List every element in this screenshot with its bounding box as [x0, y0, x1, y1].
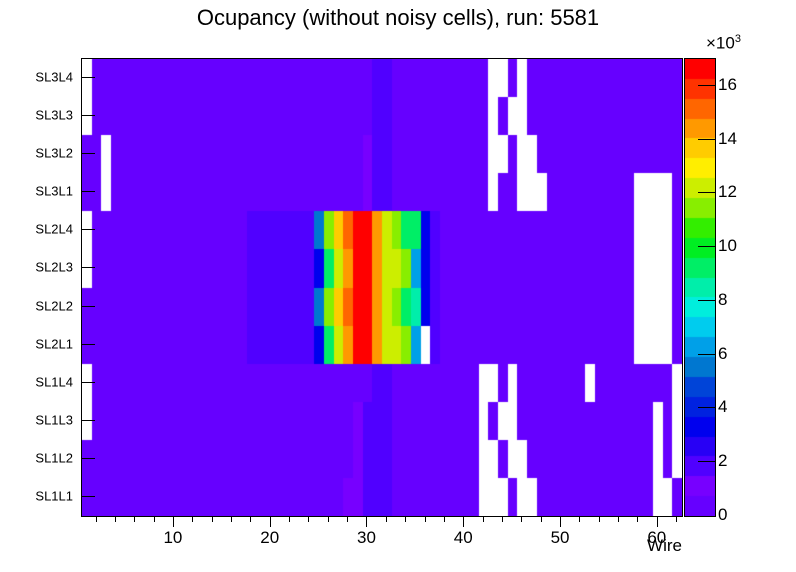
- y-axis-label-sl2l3: SL2L3: [35, 260, 79, 275]
- palette-tick: [698, 407, 715, 408]
- palette-tick: [698, 139, 715, 140]
- y-axis-tick: [81, 153, 95, 154]
- y-axis-label-sl3l2: SL3L2: [35, 146, 79, 161]
- y-axis-label-sl2l1: SL2L1: [35, 336, 79, 351]
- x-axis-tick: [657, 516, 658, 527]
- heatmap-canvas: [82, 59, 682, 516]
- palette-tick-label: 8: [718, 290, 727, 310]
- x-axis-tick: [192, 516, 193, 522]
- x-axis-tick: [637, 516, 638, 522]
- y-axis-tick: [81, 306, 95, 307]
- x-axis-tick: [521, 516, 522, 522]
- palette-tick: [698, 85, 715, 86]
- y-axis-tick: [81, 191, 95, 192]
- palette-tick-label: 16: [718, 75, 737, 95]
- palette-tick: [698, 246, 715, 247]
- x-axis-tick: [502, 516, 503, 522]
- palette-tick-label: 4: [718, 397, 727, 417]
- x-axis-tick: [347, 516, 348, 522]
- x-axis-tick: [366, 516, 367, 527]
- y-axis-tick: [81, 420, 95, 421]
- y-axis-tick: [81, 229, 95, 230]
- y-axis-label-sl3l3: SL3L3: [35, 108, 79, 123]
- palette-tick: [698, 300, 715, 301]
- palette-tick-label: 14: [718, 129, 737, 149]
- x-axis-tick: [173, 516, 174, 527]
- y-axis-label-sl1l4: SL1L4: [35, 374, 79, 389]
- x-axis-tick: [308, 516, 309, 522]
- y-axis-labels: SL3L4SL3L3SL3L2SL3L1SL2L4SL2L3SL2L2SL2L1…: [0, 58, 79, 515]
- palette-tick: [698, 461, 715, 462]
- x-axis-tick: [579, 516, 580, 522]
- y-axis-label-sl1l3: SL1L3: [35, 412, 79, 427]
- x-axis-tick: [270, 516, 271, 527]
- x-axis-tick: [154, 516, 155, 522]
- x-axis-tick: [560, 516, 561, 527]
- x-axis-tick: [618, 516, 619, 522]
- x-axis-tick: [405, 516, 406, 522]
- palette-axis: 0246810121416: [684, 58, 784, 515]
- heatmap-frame: [81, 58, 683, 517]
- x-axis-tick: [328, 516, 329, 522]
- x-axis-tick: [250, 516, 251, 522]
- palette-exponent: ×103: [706, 33, 741, 54]
- y-axis-tick: [81, 115, 95, 116]
- y-axis-tick: [81, 382, 95, 383]
- x-axis-tick: [676, 516, 677, 522]
- y-axis-label-sl2l4: SL2L4: [35, 222, 79, 237]
- palette-tick: [698, 354, 715, 355]
- y-axis-label-sl3l4: SL3L4: [35, 70, 79, 85]
- y-axis-label-sl2l2: SL2L2: [35, 298, 79, 313]
- palette-tick-label: 12: [718, 182, 737, 202]
- y-axis-tick: [81, 344, 95, 345]
- palette-exponent-base: ×10: [706, 34, 735, 53]
- x-axis-tick: [483, 516, 484, 522]
- y-axis-label-sl1l2: SL1L2: [35, 450, 79, 465]
- palette-tick-label: 6: [718, 344, 727, 364]
- x-axis-tick: [134, 516, 135, 522]
- y-axis-tick: [81, 458, 95, 459]
- y-axis-tick: [81, 496, 95, 497]
- x-axis-tick: [599, 516, 600, 522]
- x-axis-tick: [289, 516, 290, 522]
- chart-title: Ocupancy (without noisy cells), run: 558…: [0, 5, 796, 31]
- x-axis-tick: [386, 516, 387, 522]
- plot-canvas: Ocupancy (without noisy cells), run: 558…: [0, 0, 796, 572]
- y-axis-tick: [81, 77, 95, 78]
- palette-tick-label: 10: [718, 236, 737, 256]
- y-axis-tick: [81, 267, 95, 268]
- x-axis-title: Wire: [0, 536, 682, 556]
- x-axis-tick: [96, 516, 97, 522]
- palette-tick-label: 2: [718, 451, 727, 471]
- x-axis-tick: [212, 516, 213, 522]
- x-axis-tick: [541, 516, 542, 522]
- palette-exponent-power: 3: [735, 33, 741, 45]
- y-axis-label-sl1l1: SL1L1: [35, 488, 79, 503]
- x-axis-tick: [115, 516, 116, 522]
- x-axis-tick: [444, 516, 445, 522]
- x-axis-tick: [463, 516, 464, 527]
- x-axis-tick: [231, 516, 232, 522]
- y-axis-label-sl3l1: SL3L1: [35, 184, 79, 199]
- palette-tick: [698, 192, 715, 193]
- x-axis-tick: [425, 516, 426, 522]
- palette-tick-label: 0: [718, 505, 727, 525]
